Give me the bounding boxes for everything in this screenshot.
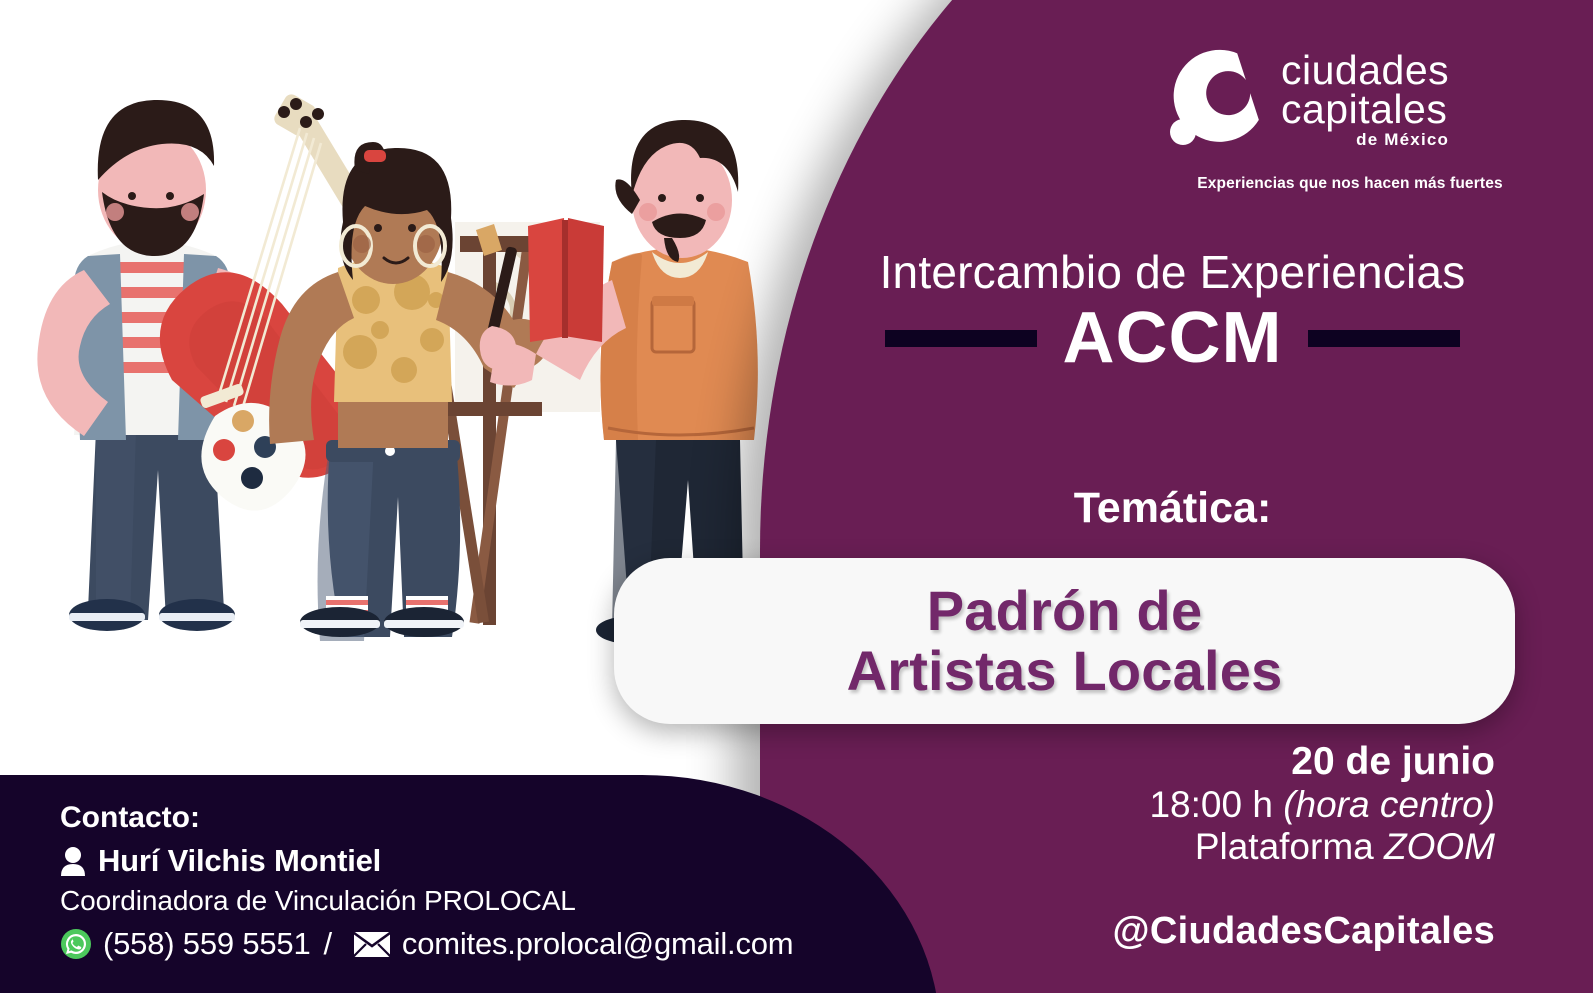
event-time-note: (hora centro)	[1283, 784, 1495, 825]
event-platform: Plataforma ZOOM	[1149, 826, 1495, 869]
event-date: 20 de junio	[1149, 740, 1495, 784]
theme-card-line-2: Artistas Locales	[847, 641, 1283, 701]
theme-card: Padrón de Artistas Locales	[614, 558, 1515, 724]
acronym-row: ACCM	[800, 302, 1545, 374]
event-time: 18:00 h (hora centro)	[1149, 784, 1495, 827]
event-details: 20 de junio 18:00 h (hora centro) Plataf…	[1149, 740, 1495, 869]
headline-block: Intercambio de Experiencias ACCM	[800, 248, 1545, 374]
acronym-label: ACCM	[1063, 302, 1283, 374]
contact-links-row: (558) 559 5551 / comites.prolocal@gmail.…	[60, 926, 793, 962]
logo-line-3: de México	[1281, 132, 1449, 148]
acronym-bar-right	[1308, 330, 1460, 347]
contact-email[interactable]: comites.prolocal@gmail.com	[402, 926, 794, 962]
contact-name-row: Hurí Vilchis Montiel	[60, 843, 793, 879]
contact-phone[interactable]: (558) 559 5551	[103, 926, 310, 962]
theme-card-line-1: Padrón de	[927, 581, 1203, 641]
theme-label: Temática:	[800, 484, 1545, 533]
event-platform-plain: Plataforma	[1195, 826, 1384, 867]
c-circle-logo-icon	[1155, 42, 1265, 157]
logo-line-2: capitales	[1281, 90, 1449, 129]
person-icon	[60, 846, 86, 876]
social-handle[interactable]: @CiudadesCapitales	[1113, 910, 1495, 953]
whatsapp-icon[interactable]	[60, 928, 92, 960]
contact-block: Contacto: Hurí Vilchis Montiel Coordinad…	[60, 798, 793, 962]
contact-separator: /	[321, 926, 333, 962]
contact-title: Contacto:	[60, 798, 793, 837]
event-platform-name: ZOOM	[1384, 826, 1495, 867]
red-book	[528, 218, 604, 342]
contact-role: Coordinadora de Vinculación PROLOCAL	[60, 885, 793, 917]
event-time-plain: 18:00 h	[1149, 784, 1283, 825]
logo-line-1: ciudades	[1281, 51, 1449, 90]
acronym-bar-left	[885, 330, 1037, 347]
brand-logo: ciudades capitales de México Experiencia…	[1155, 42, 1545, 193]
flyer-canvas: ciudades capitales de México Experiencia…	[0, 0, 1593, 993]
headline-line-1: Intercambio de Experiencias	[800, 248, 1545, 296]
logo-tagline: Experiencias que nos hacen más fuertes	[1155, 175, 1545, 193]
envelope-icon[interactable]	[353, 931, 391, 958]
contact-name: Hurí Vilchis Montiel	[98, 843, 381, 879]
